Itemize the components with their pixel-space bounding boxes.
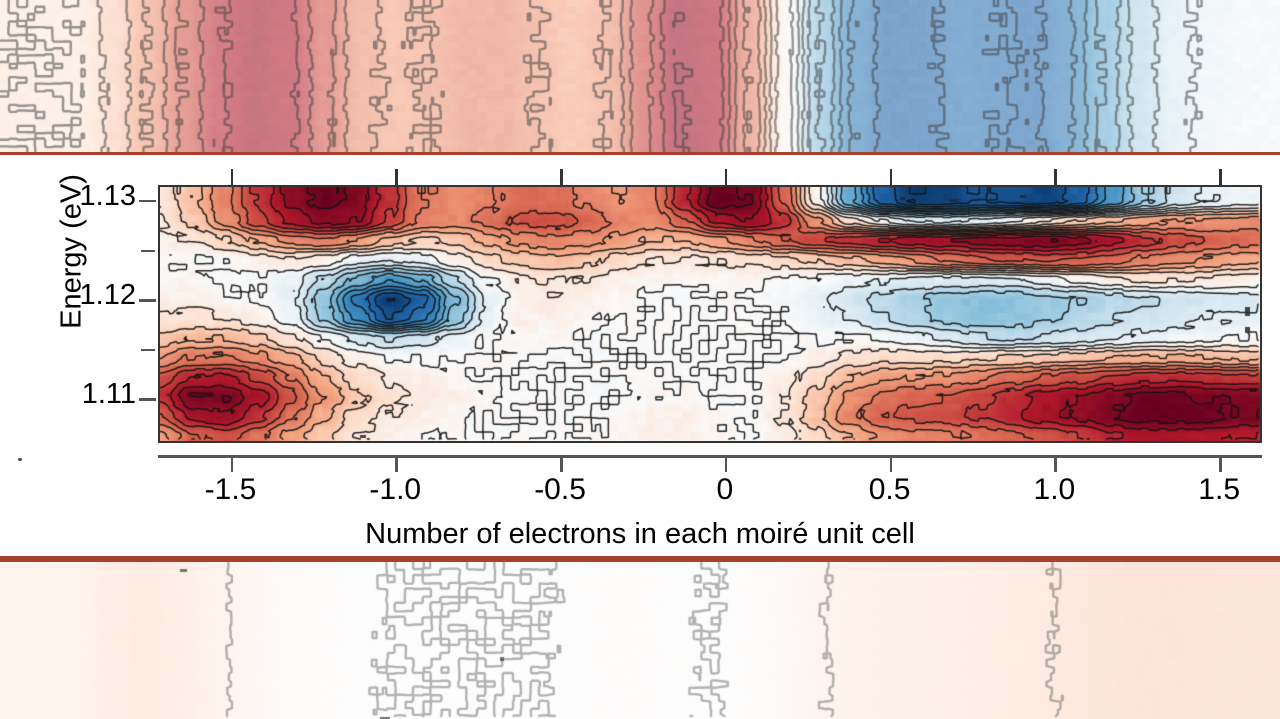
x-tick xyxy=(890,455,893,472)
x-tick-label: 1.5 xyxy=(1159,473,1279,507)
x-tick-label: -1.0 xyxy=(335,473,455,507)
top-tick xyxy=(725,169,728,185)
top-tick xyxy=(560,169,563,185)
x-tick-label: 1.0 xyxy=(994,473,1114,507)
x-tick-label: 0.5 xyxy=(830,473,950,507)
x-tick xyxy=(1219,455,1222,472)
top-tick xyxy=(231,169,234,185)
context-panel-bottom xyxy=(0,562,1280,719)
context-heatmap-top xyxy=(0,0,1280,155)
plot-frame xyxy=(158,185,1262,443)
context-heatmap-bottom xyxy=(0,562,1280,719)
top-tick xyxy=(1054,169,1057,185)
y-tick-label: 1.12 xyxy=(40,279,136,312)
main-figure: Energy (eV) 1.131.121.11 -1.5-1.0-0.500.… xyxy=(0,155,1280,556)
x-tick xyxy=(560,455,563,472)
y-tick-minor xyxy=(141,250,155,253)
y-tick-label: 1.11 xyxy=(40,378,136,411)
y-tick-major xyxy=(139,398,156,401)
top-tick xyxy=(890,169,893,185)
x-tick-label: -1.5 xyxy=(171,473,291,507)
x-tick xyxy=(231,455,234,472)
top-tick xyxy=(395,169,398,185)
y-tick-label: 1.13 xyxy=(40,180,136,213)
x-tick xyxy=(395,455,398,472)
y-tick-major xyxy=(139,299,156,302)
x-tick xyxy=(725,455,728,472)
context-panel-top xyxy=(0,0,1280,155)
y-tick-major xyxy=(139,200,156,203)
x-tick-label: -0.5 xyxy=(500,473,620,507)
image-speck xyxy=(18,458,22,461)
x-tick-label: 0 xyxy=(665,473,785,507)
heatmap-contour-plot xyxy=(160,187,1260,441)
top-tick xyxy=(1219,169,1222,185)
y-tick-minor xyxy=(141,349,155,352)
x-axis-line xyxy=(158,455,1262,458)
x-tick xyxy=(1054,455,1057,472)
x-axis-title: Number of electrons in each moiré unit c… xyxy=(0,518,1280,551)
